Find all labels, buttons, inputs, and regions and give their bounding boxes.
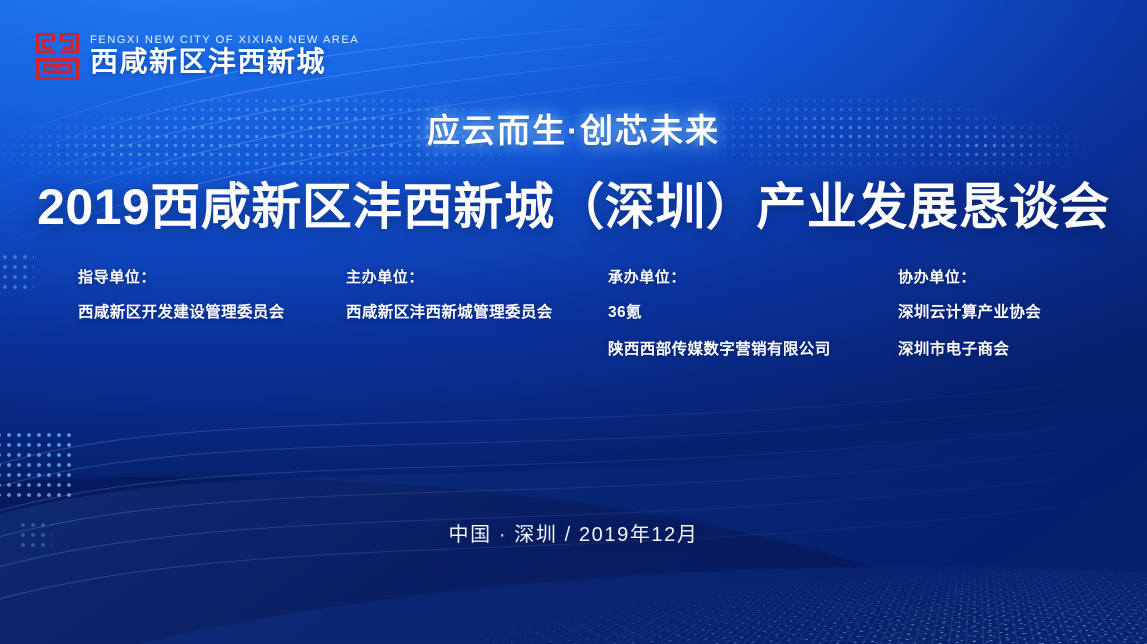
organizer-role-label: 主办单位： [346, 266, 608, 287]
organizer-entity: 西咸新区开发建设管理委员会 [78, 305, 346, 321]
organizer-entity: 陕西西部传媒数字营销有限公司 [608, 342, 898, 358]
conference-banner: FENGXI NEW CITY OF XIXIAN NEW AREA 西咸新区沣… [0, 0, 1147, 644]
event-slogan: 应云而生·创芯未来 [0, 104, 1147, 152]
brand-chinese-name: 西咸新区沣西新城 [90, 47, 359, 77]
brand-logo: FENGXI NEW CITY OF XIXIAN NEW AREA 西咸新区沣… [36, 33, 359, 80]
organizer-entity: 西咸新区沣西新城管理委员会 [346, 305, 608, 321]
organizer-column-coorganizer: 协办单位： 深圳云计算产业协会 深圳市电子商会 [898, 266, 1078, 357]
organizer-column-guidance: 指导单位： 西咸新区开发建设管理委员会 [78, 266, 346, 321]
organizer-role-label: 承办单位： [608, 266, 898, 287]
brand-english-name: FENGXI NEW CITY OF XIXIAN NEW AREA [90, 35, 359, 46]
organizer-column-host: 主办单位： 西咸新区沣西新城管理委员会 [346, 266, 608, 321]
organizer-column-undertaker: 承办单位： 36氪 陕西西部传媒数字营销有限公司 [608, 266, 898, 357]
organizer-entity: 深圳市电子商会 [898, 342, 1078, 358]
fengxi-seal-logo-icon [36, 33, 79, 80]
event-location-date: 中国 · 深圳 / 2019年12月 [0, 518, 1147, 547]
event-title: 2019西咸新区沣西新城（深圳）产业发展恳谈会 [0, 167, 1147, 239]
organizer-columns: 指导单位： 西咸新区开发建设管理委员会 主办单位： 西咸新区沣西新城管理委员会 … [78, 266, 1078, 357]
organizer-role-label: 协办单位： [898, 266, 1078, 287]
organizer-role-label: 指导单位： [78, 266, 346, 287]
organizer-entity: 深圳云计算产业协会 [898, 305, 1078, 321]
organizer-entity: 36氪 [608, 305, 898, 321]
